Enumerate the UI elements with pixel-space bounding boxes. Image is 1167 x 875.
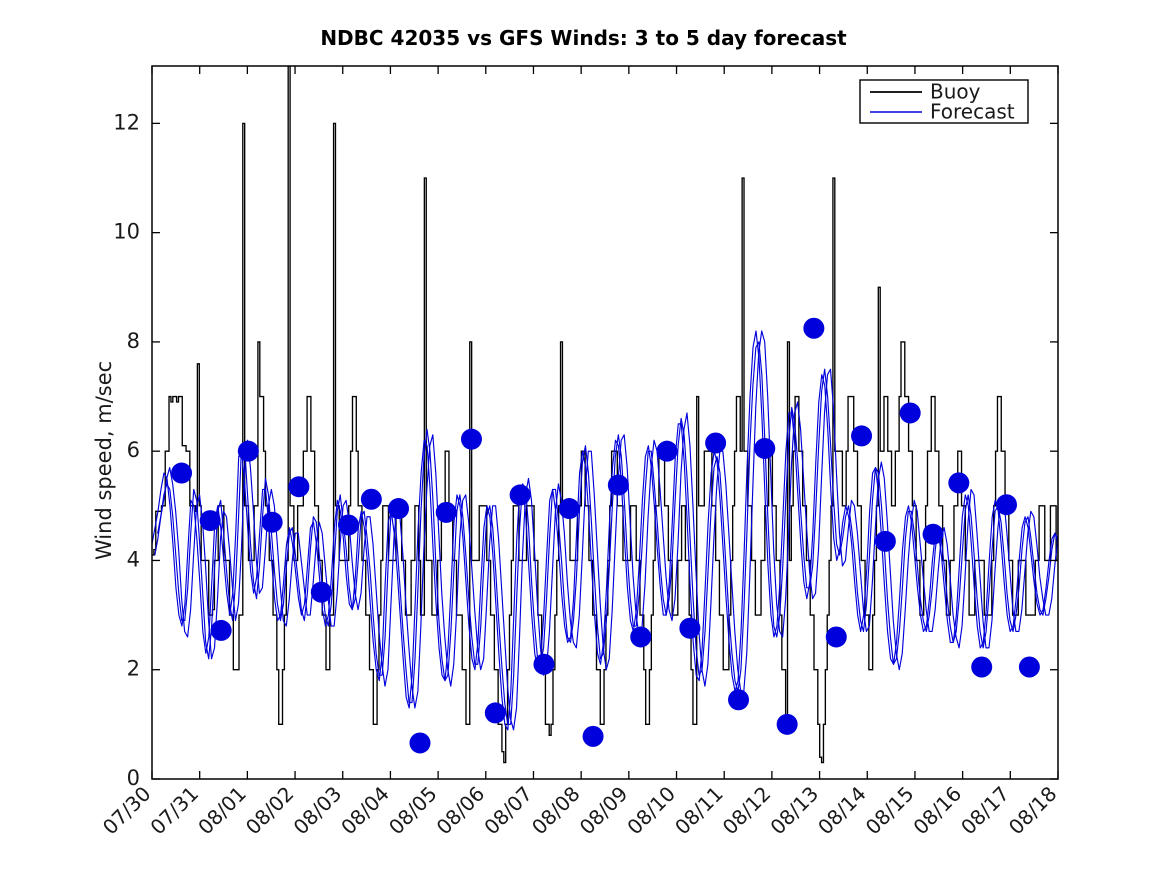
forecast-marker-dot <box>728 689 749 710</box>
forecast-marker-dot <box>583 726 604 747</box>
legend-forecast-label: Forecast <box>930 100 1015 124</box>
forecast-marker-dot <box>875 531 896 552</box>
forecast-marker-dot <box>533 654 554 675</box>
y-axis-tick-label: 4 <box>127 547 140 571</box>
x-axis-tick-label: 08/15 <box>861 782 919 840</box>
forecast-marker-dot <box>311 582 332 603</box>
forecast-marker-dot <box>388 498 409 519</box>
forecast-marker-dot <box>262 512 283 533</box>
forecast-marker-dot <box>608 475 629 496</box>
forecast-marker-dot <box>851 425 872 446</box>
x-axis-tick-label: 08/06 <box>432 782 490 840</box>
forecast-marker-dot <box>338 514 359 535</box>
forecast-marker-dot <box>630 626 651 647</box>
forecast-marker-dot <box>171 463 192 484</box>
forecast-marker-dot <box>559 498 580 519</box>
forecast-marker-dot <box>200 510 221 531</box>
x-axis-tick-label: 08/17 <box>956 782 1014 840</box>
forecast-marker-dot <box>436 502 457 523</box>
forecast-marker-dot <box>777 714 798 735</box>
forecast-marker-dot <box>485 702 506 723</box>
chart-plot-area: 02468101207/3007/3108/0108/0208/0308/040… <box>0 0 1167 875</box>
x-axis-tick-label: 08/04 <box>336 782 394 840</box>
forecast-marker-dot <box>656 441 677 462</box>
x-axis-tick-label: 08/07 <box>479 782 537 840</box>
forecast-marker-dot <box>754 438 775 459</box>
forecast-marker-dot <box>900 402 921 423</box>
series-forecast-markers <box>171 318 1040 754</box>
forecast-marker-dot <box>826 626 847 647</box>
y-axis-tick-label: 12 <box>113 110 140 134</box>
x-axis-tick-label: 08/13 <box>765 782 823 840</box>
y-axis-tick-label: 6 <box>127 438 140 462</box>
forecast-marker-dot <box>971 657 992 678</box>
forecast-marker-dot <box>1019 657 1040 678</box>
forecast-marker-dot <box>803 318 824 339</box>
x-axis-tick-label: 08/12 <box>718 782 776 840</box>
forecast-marker-dot <box>211 620 232 641</box>
forecast-marker-dot <box>923 524 944 545</box>
y-axis-tick-label: 10 <box>113 220 140 244</box>
y-axis-tick-label: 8 <box>127 329 140 353</box>
x-axis-tick-label: 08/01 <box>193 782 251 840</box>
forecast-marker-dot <box>679 618 700 639</box>
x-axis-tick-label: 08/14 <box>813 782 871 840</box>
forecast-marker-dot <box>461 429 482 450</box>
forecast-marker-dot <box>510 484 531 505</box>
chart-legend: BuoyForecast <box>860 80 1028 124</box>
forecast-marker-dot <box>948 472 969 493</box>
x-axis-tick-label: 07/30 <box>98 782 156 840</box>
x-axis-tick-label: 08/10 <box>622 782 680 840</box>
x-axis-tick-label: 08/09 <box>575 782 633 840</box>
forecast-marker-dot <box>409 732 430 753</box>
x-axis-tick-label: 08/18 <box>1004 782 1062 840</box>
x-axis-tick-label: 08/03 <box>289 782 347 840</box>
forecast-marker-dot <box>705 432 726 453</box>
x-axis-tick-label: 08/11 <box>670 782 728 840</box>
y-axis-tick-label: 2 <box>127 657 140 681</box>
x-axis-tick-label: 08/02 <box>241 782 299 840</box>
forecast-marker-dot <box>288 476 309 497</box>
x-axis-tick-label: 08/05 <box>384 782 442 840</box>
figure-container: NDBC 42035 vs GFS Winds: 3 to 5 day fore… <box>0 0 1167 875</box>
x-axis-tick-label: 07/31 <box>145 782 203 840</box>
x-axis-tick-label: 08/16 <box>908 782 966 840</box>
forecast-marker-dot <box>361 489 382 510</box>
forecast-marker-dot <box>238 441 259 462</box>
x-axis-tick-label: 08/08 <box>527 782 585 840</box>
forecast-marker-dot <box>996 494 1017 515</box>
